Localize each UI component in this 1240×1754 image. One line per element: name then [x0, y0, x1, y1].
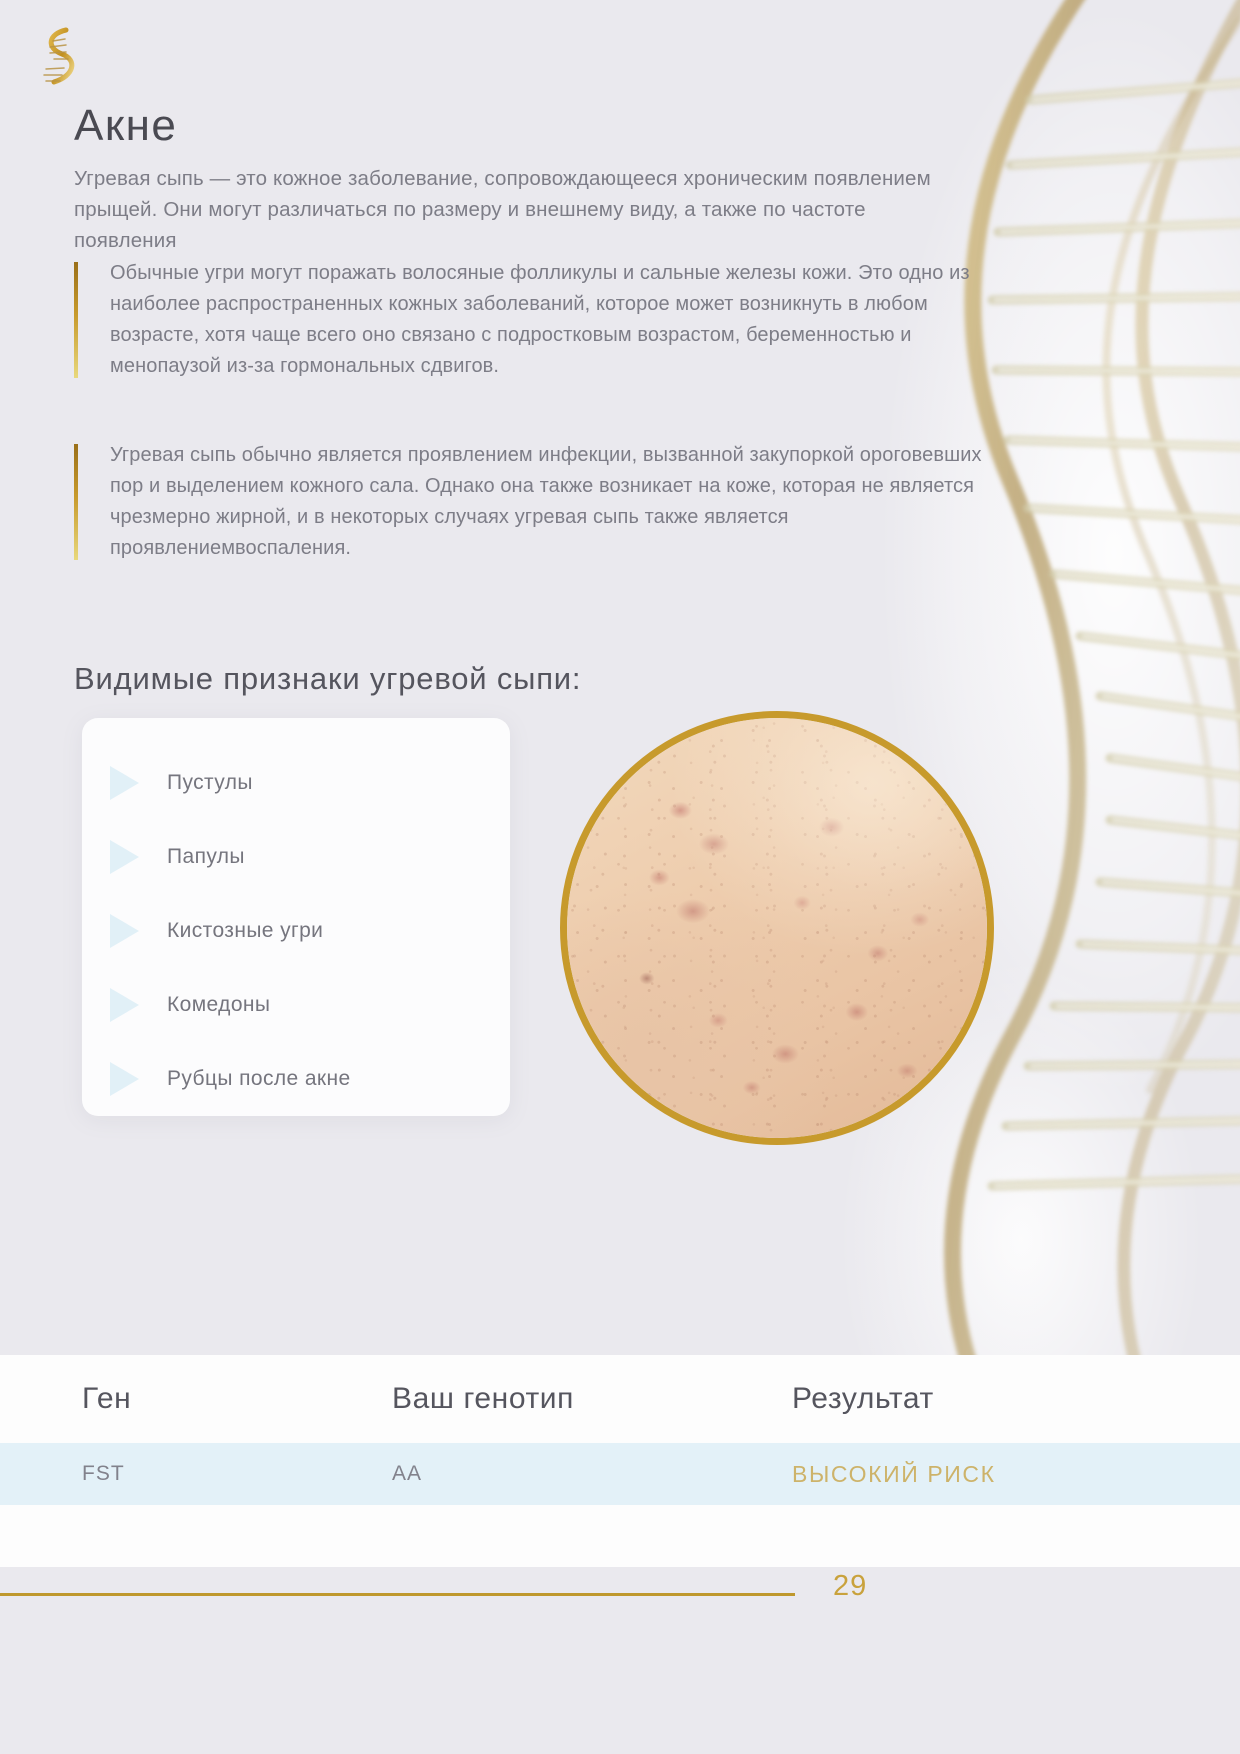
dna-helix-icon: [36, 24, 84, 94]
footer-divider: [0, 1593, 795, 1596]
page-number: 29: [833, 1570, 867, 1603]
section-heading-visible-signs: Видимые признаки угревой сыпи:: [74, 661, 581, 697]
results-table: Ген Ваш генотип Результат FST AA ВЫСОКИЙ…: [0, 1355, 1240, 1567]
column-header-genotype: Ваш генотип: [392, 1382, 792, 1416]
list-item: Комедоны: [82, 968, 510, 1042]
visible-signs-card: Пустулы Папулы Кистозные угри Комедоны Р…: [82, 718, 510, 1116]
triangle-right-icon: [110, 914, 139, 948]
list-item-label: Рубцы после акне: [167, 1067, 351, 1091]
list-item-label: Пустулы: [167, 771, 253, 795]
list-item: Рубцы после акне: [82, 1042, 510, 1116]
list-item-label: Комедоны: [167, 993, 270, 1017]
cell-gene: FST: [82, 1462, 392, 1486]
page-title: Акне: [74, 101, 177, 151]
report-page: Акне Угревая сыпь — это кожное заболеван…: [0, 0, 1240, 1754]
triangle-right-icon: [110, 988, 139, 1022]
table-header-row: Ген Ваш генотип Результат: [0, 1355, 1240, 1443]
table-spacer-row: [0, 1505, 1240, 1567]
quote-block-2: Угревая сыпь обычно является проявлением…: [74, 440, 990, 564]
triangle-right-icon: [110, 840, 139, 874]
intro-paragraph: Угревая сыпь — это кожное заболевание, с…: [74, 163, 959, 256]
list-item: Кистозные угри: [82, 894, 510, 968]
table-row: FST AA ВЫСОКИЙ РИСК: [0, 1443, 1240, 1505]
list-item: Пустулы: [82, 746, 510, 820]
list-item-label: Папулы: [167, 845, 245, 869]
status-badge: ВЫСОКИЙ РИСК: [792, 1461, 1240, 1488]
acne-skin-photo: [560, 711, 994, 1145]
triangle-right-icon: [110, 1062, 139, 1096]
list-item-label: Кистозные угри: [167, 919, 323, 943]
quote-block-1: Обычные угри могут поражать волосяные фо…: [74, 258, 990, 382]
list-item: Папулы: [82, 820, 510, 894]
triangle-right-icon: [110, 766, 139, 800]
column-header-result: Результат: [792, 1382, 1240, 1416]
column-header-gene: Ген: [82, 1382, 392, 1416]
skin-highlight: [567, 718, 987, 1138]
cell-genotype: AA: [392, 1462, 792, 1486]
